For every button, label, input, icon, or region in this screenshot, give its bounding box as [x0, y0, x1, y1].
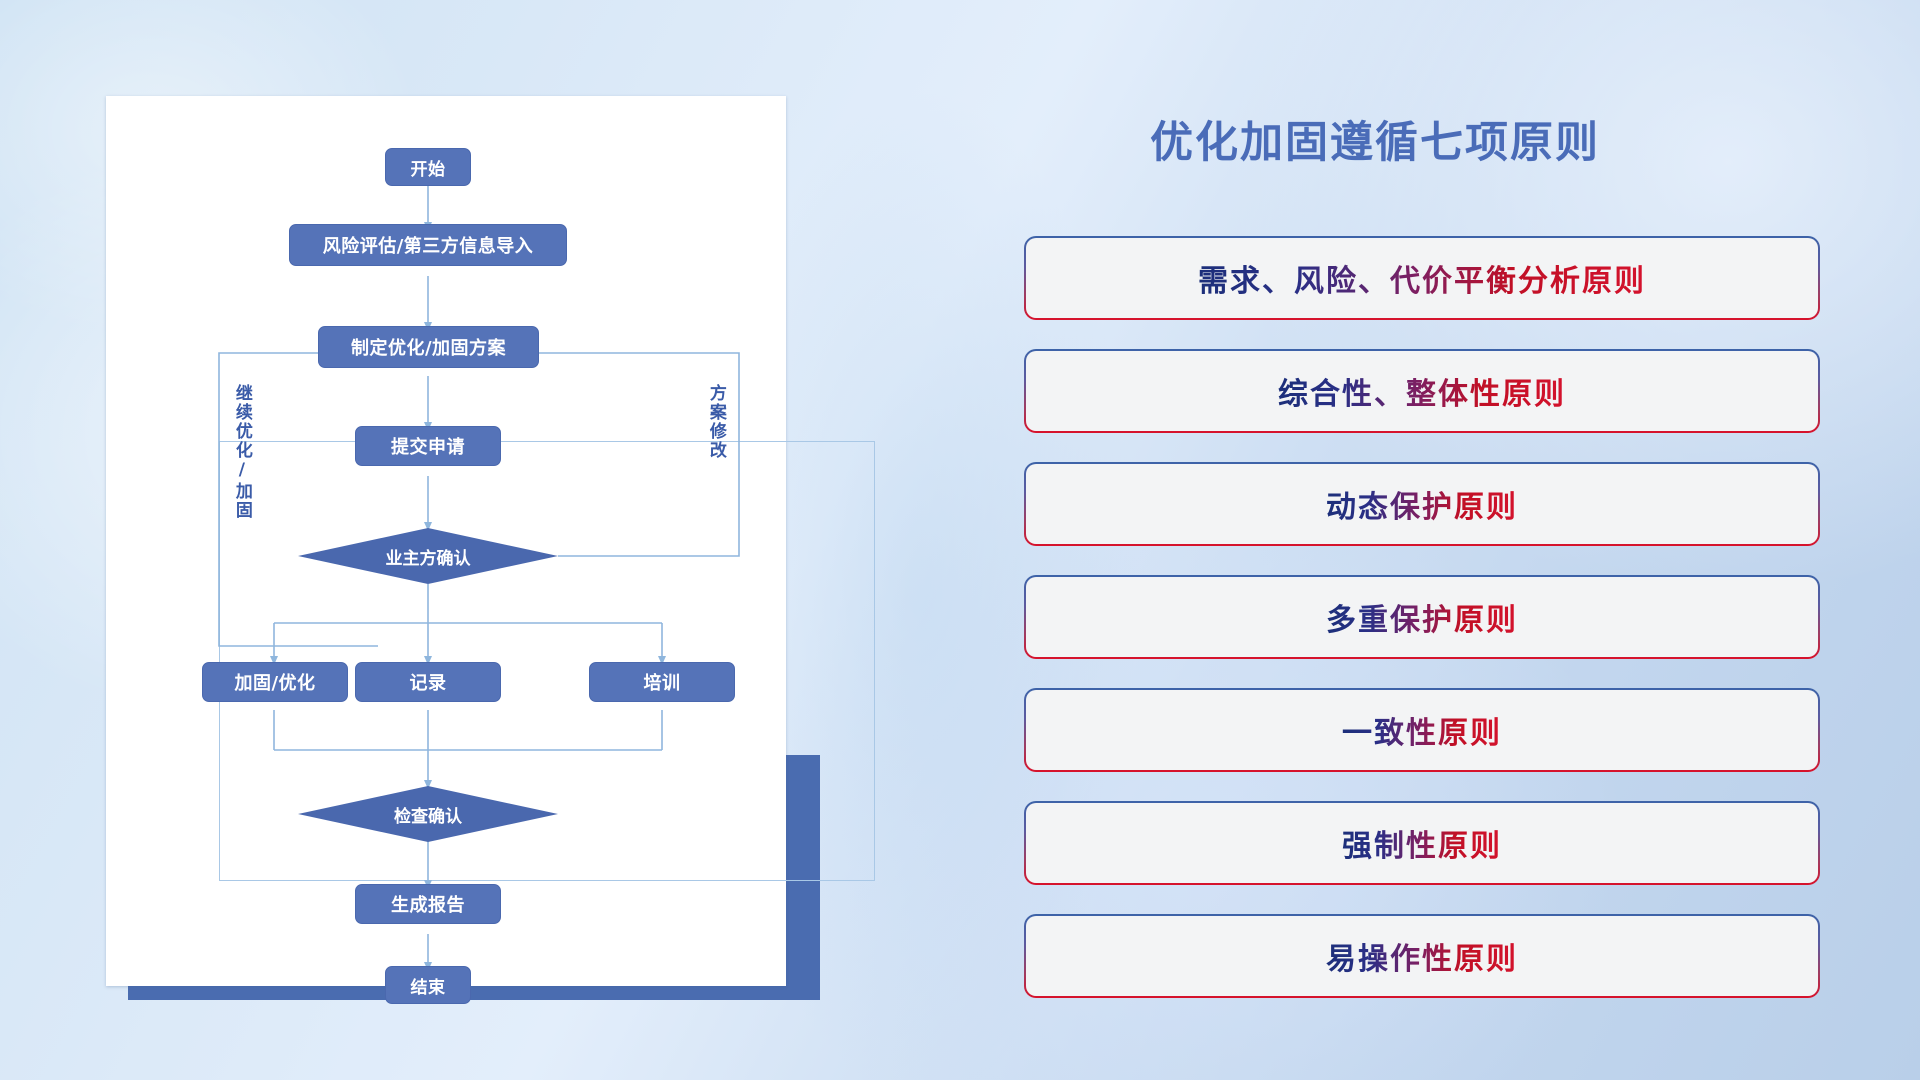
flow-node-label: 生成报告	[391, 891, 465, 917]
panel-title: 优化加固遵循七项原则	[1150, 108, 1600, 170]
principle-label: 一致性原则	[1342, 708, 1502, 752]
flow-node-label: 提交申请	[391, 433, 465, 459]
principle-card[interactable]: 多重保护原则	[1024, 575, 1820, 659]
flow-node-label: 制定优化/加固方案	[351, 334, 506, 360]
principle-card[interactable]: 动态保护原则	[1024, 462, 1820, 546]
flow-node-end[interactable]: 结束	[385, 966, 471, 1004]
flow-node-reinforce[interactable]: 加固/优化	[202, 662, 348, 702]
flow-node-plan[interactable]: 制定优化/加固方案	[318, 326, 539, 368]
principle-card-inner: 动态保护原则	[1026, 464, 1818, 544]
principle-card[interactable]: 一致性原则	[1024, 688, 1820, 772]
principle-card-inner: 强制性原则	[1026, 803, 1818, 883]
flow-node-owner-confirm[interactable]: 业主方确认	[338, 540, 518, 572]
flow-node-label: 检查确认	[394, 802, 462, 827]
flow-node-record[interactable]: 记录	[355, 662, 501, 702]
flowchart-card: 开始 风险评估/第三方信息导入 制定优化/加固方案 提交申请 业主方确认 加固/…	[106, 96, 786, 986]
principle-row[interactable]: 需求、风险、代价平衡分析原则	[1024, 236, 1820, 320]
principle-card-inner: 多重保护原则	[1026, 577, 1818, 657]
flow-node-check-confirm[interactable]: 检查确认	[338, 798, 518, 830]
flow-node-risk-assessment[interactable]: 风险评估/第三方信息导入	[289, 224, 567, 266]
principle-label: 多重保护原则	[1326, 595, 1518, 639]
principle-row[interactable]: 一致性原则	[1024, 688, 1820, 772]
flow-node-report[interactable]: 生成报告	[355, 884, 501, 924]
principle-row[interactable]: 强制性原则	[1024, 801, 1820, 885]
principle-card-inner: 需求、风险、代价平衡分析原则	[1026, 238, 1818, 318]
principle-card-inner: 综合性、整体性原则	[1026, 351, 1818, 431]
flow-node-label: 业主方确认	[386, 544, 471, 569]
flow-node-start[interactable]: 开始	[385, 148, 471, 186]
principle-card[interactable]: 强制性原则	[1024, 801, 1820, 885]
principle-row[interactable]: 综合性、整体性原则	[1024, 349, 1820, 433]
flow-edge-label-plan-revision: 方案修改	[706, 384, 724, 460]
flow-node-label: 培训	[644, 669, 681, 695]
flow-node-label: 风险评估/第三方信息导入	[323, 232, 534, 258]
principle-card[interactable]: 易操作性原则	[1024, 914, 1820, 998]
principle-label: 强制性原则	[1342, 821, 1502, 865]
flow-node-label: 开始	[411, 155, 446, 180]
principle-label: 需求、风险、代价平衡分析原则	[1198, 256, 1646, 300]
principle-label: 动态保护原则	[1326, 482, 1518, 526]
principle-label: 综合性、整体性原则	[1278, 369, 1566, 413]
flow-edge-label-continue-optimize: 继续优化/加固	[232, 384, 250, 520]
flow-node-label: 记录	[410, 669, 447, 695]
principle-row[interactable]: 易操作性原则	[1024, 914, 1820, 998]
principles-panel: 优化加固遵循七项原则 需求、风险、代价平衡分析原则 综合性、整体性原则 动态保护…	[1020, 80, 1850, 1010]
flow-node-training[interactable]: 培训	[589, 662, 735, 702]
principle-card-inner: 易操作性原则	[1026, 916, 1818, 996]
flow-node-submit[interactable]: 提交申请	[355, 426, 501, 466]
flow-node-label: 加固/优化	[234, 669, 315, 695]
principle-card-inner: 一致性原则	[1026, 690, 1818, 770]
flow-node-label: 结束	[411, 973, 446, 998]
principle-card[interactable]: 综合性、整体性原则	[1024, 349, 1820, 433]
principle-row[interactable]: 多重保护原则	[1024, 575, 1820, 659]
principle-label: 易操作性原则	[1326, 934, 1518, 978]
principle-row[interactable]: 动态保护原则	[1024, 462, 1820, 546]
principle-card[interactable]: 需求、风险、代价平衡分析原则	[1024, 236, 1820, 320]
